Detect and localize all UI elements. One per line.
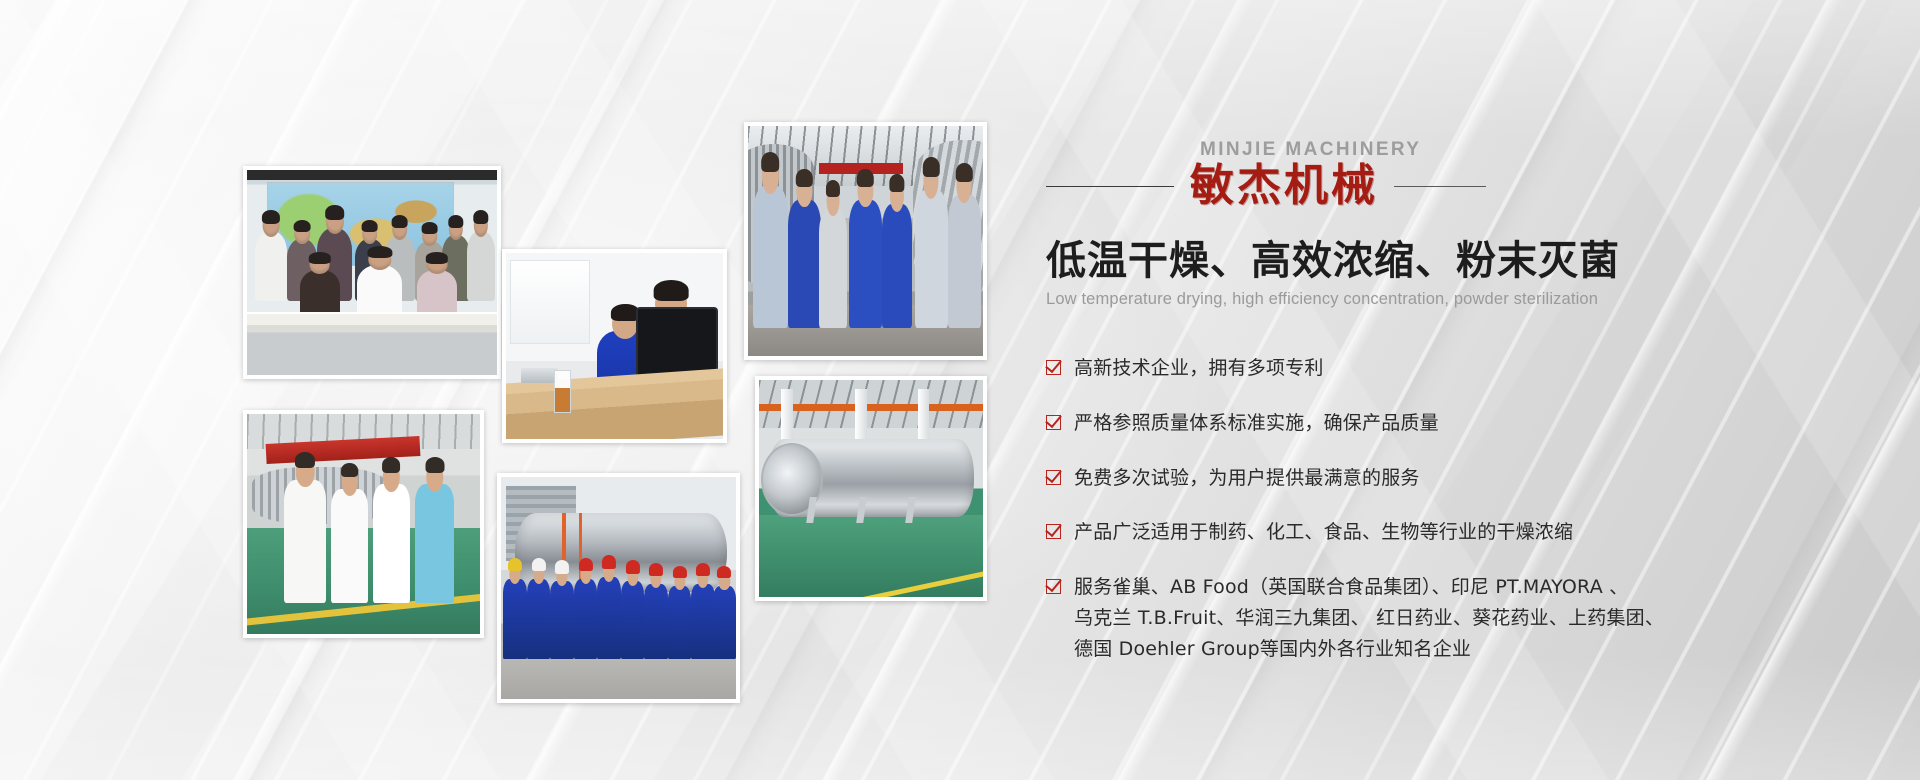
photo-meeting[interactable] bbox=[243, 166, 501, 379]
check-icon bbox=[1046, 415, 1061, 430]
photo-shipment-scene bbox=[501, 477, 736, 699]
brand-rule-left bbox=[1046, 186, 1174, 187]
feature-list: 高新技术企业，拥有多项专利 严格参照质量体系标准实施，确保产品质量 免费多次试验… bbox=[1046, 353, 1846, 664]
feature-text: 免费多次试验，为用户提供最满意的服务 bbox=[1074, 463, 1420, 494]
photo-shipment-frame bbox=[501, 477, 736, 699]
brand-block: MINJIE MACHINERY 敏杰机械 bbox=[1046, 140, 1846, 209]
feature-line: 高新技术企业，拥有多项专利 bbox=[1074, 353, 1324, 384]
photo-dryer-scene bbox=[759, 380, 983, 597]
hero-text-column: MINJIE MACHINERY 敏杰机械 低温干燥、高效浓缩、粉末灭菌 Low… bbox=[1046, 140, 1846, 680]
lab-flask bbox=[554, 370, 571, 413]
conference-table bbox=[247, 312, 497, 376]
feature-item: 严格参照质量体系标准实施，确保产品质量 bbox=[1046, 408, 1846, 439]
feature-text: 产品广泛适用于制药、化工、食品、生物等行业的干燥浓缩 bbox=[1074, 517, 1573, 548]
feature-item: 服务雀巢、AB Food（英国联合食品集团）、印尼 PT.MAYORA 、 乌克… bbox=[1046, 572, 1846, 664]
photo-meeting-scene bbox=[247, 170, 497, 375]
feature-line: 德国 Doehler Group等国内外各行业知名企业 bbox=[1074, 634, 1664, 665]
photo-delegation-scene bbox=[748, 126, 983, 356]
photo-factory-frame bbox=[247, 414, 480, 634]
photo-delegation[interactable] bbox=[744, 122, 987, 360]
photo-shipment[interactable] bbox=[497, 473, 740, 703]
lab-stirrer bbox=[521, 368, 558, 383]
headline-english: Low temperature drying, high efficiency … bbox=[1046, 290, 1846, 309]
brand-name-row: 敏杰机械 bbox=[1046, 163, 1846, 209]
lab-wall-panel bbox=[510, 260, 590, 344]
photo-dryer[interactable] bbox=[755, 376, 987, 601]
brand-rule-right bbox=[1394, 186, 1486, 187]
feature-line: 乌克兰 T.B.Fruit、华润三九集团、 红日药业、葵花药业、上药集团、 bbox=[1074, 603, 1664, 634]
photo-lab-scene bbox=[506, 253, 723, 439]
feature-line: 服务雀巢、AB Food（英国联合食品集团）、印尼 PT.MAYORA 、 bbox=[1074, 572, 1664, 603]
feature-text: 高新技术企业，拥有多项专利 bbox=[1074, 353, 1324, 384]
headline-chinese: 低温干燥、高效浓缩、粉末灭菌 bbox=[1046, 239, 1846, 284]
photo-factory-scene bbox=[247, 414, 480, 634]
hero-banner: MINJIE MACHINERY 敏杰机械 低温干燥、高效浓缩、粉末灭菌 Low… bbox=[0, 0, 1920, 780]
feature-line: 产品广泛适用于制药、化工、食品、生物等行业的干燥浓缩 bbox=[1074, 517, 1573, 548]
feature-line: 严格参照质量体系标准实施，确保产品质量 bbox=[1074, 408, 1439, 439]
overhead-crane-beam bbox=[759, 404, 983, 412]
feature-item: 产品广泛适用于制药、化工、食品、生物等行业的干燥浓缩 bbox=[1046, 517, 1846, 548]
feature-text: 服务雀巢、AB Food（英国联合食品集团）、印尼 PT.MAYORA 、 乌克… bbox=[1074, 572, 1664, 664]
photo-factory[interactable] bbox=[243, 410, 484, 638]
check-icon bbox=[1046, 360, 1061, 375]
photo-delegation-frame bbox=[748, 126, 983, 356]
hall-green-floor bbox=[759, 515, 983, 597]
brand-chinese-name: 敏杰机械 bbox=[1190, 163, 1378, 209]
photo-lab[interactable] bbox=[502, 249, 727, 443]
check-icon bbox=[1046, 524, 1061, 539]
photo-meeting-frame bbox=[247, 170, 497, 375]
feature-line: 免费多次试验，为用户提供最满意的服务 bbox=[1074, 463, 1420, 494]
check-icon bbox=[1046, 470, 1061, 485]
brand-english-name: MINJIE MACHINERY bbox=[1200, 140, 1846, 159]
feature-item: 高新技术企业，拥有多项专利 bbox=[1046, 353, 1846, 384]
check-icon bbox=[1046, 579, 1061, 594]
photo-lab-frame bbox=[506, 253, 723, 439]
photo-dryer-frame bbox=[759, 380, 983, 597]
feature-text: 严格参照质量体系标准实施，确保产品质量 bbox=[1074, 408, 1439, 439]
feature-item: 免费多次试验，为用户提供最满意的服务 bbox=[1046, 463, 1846, 494]
